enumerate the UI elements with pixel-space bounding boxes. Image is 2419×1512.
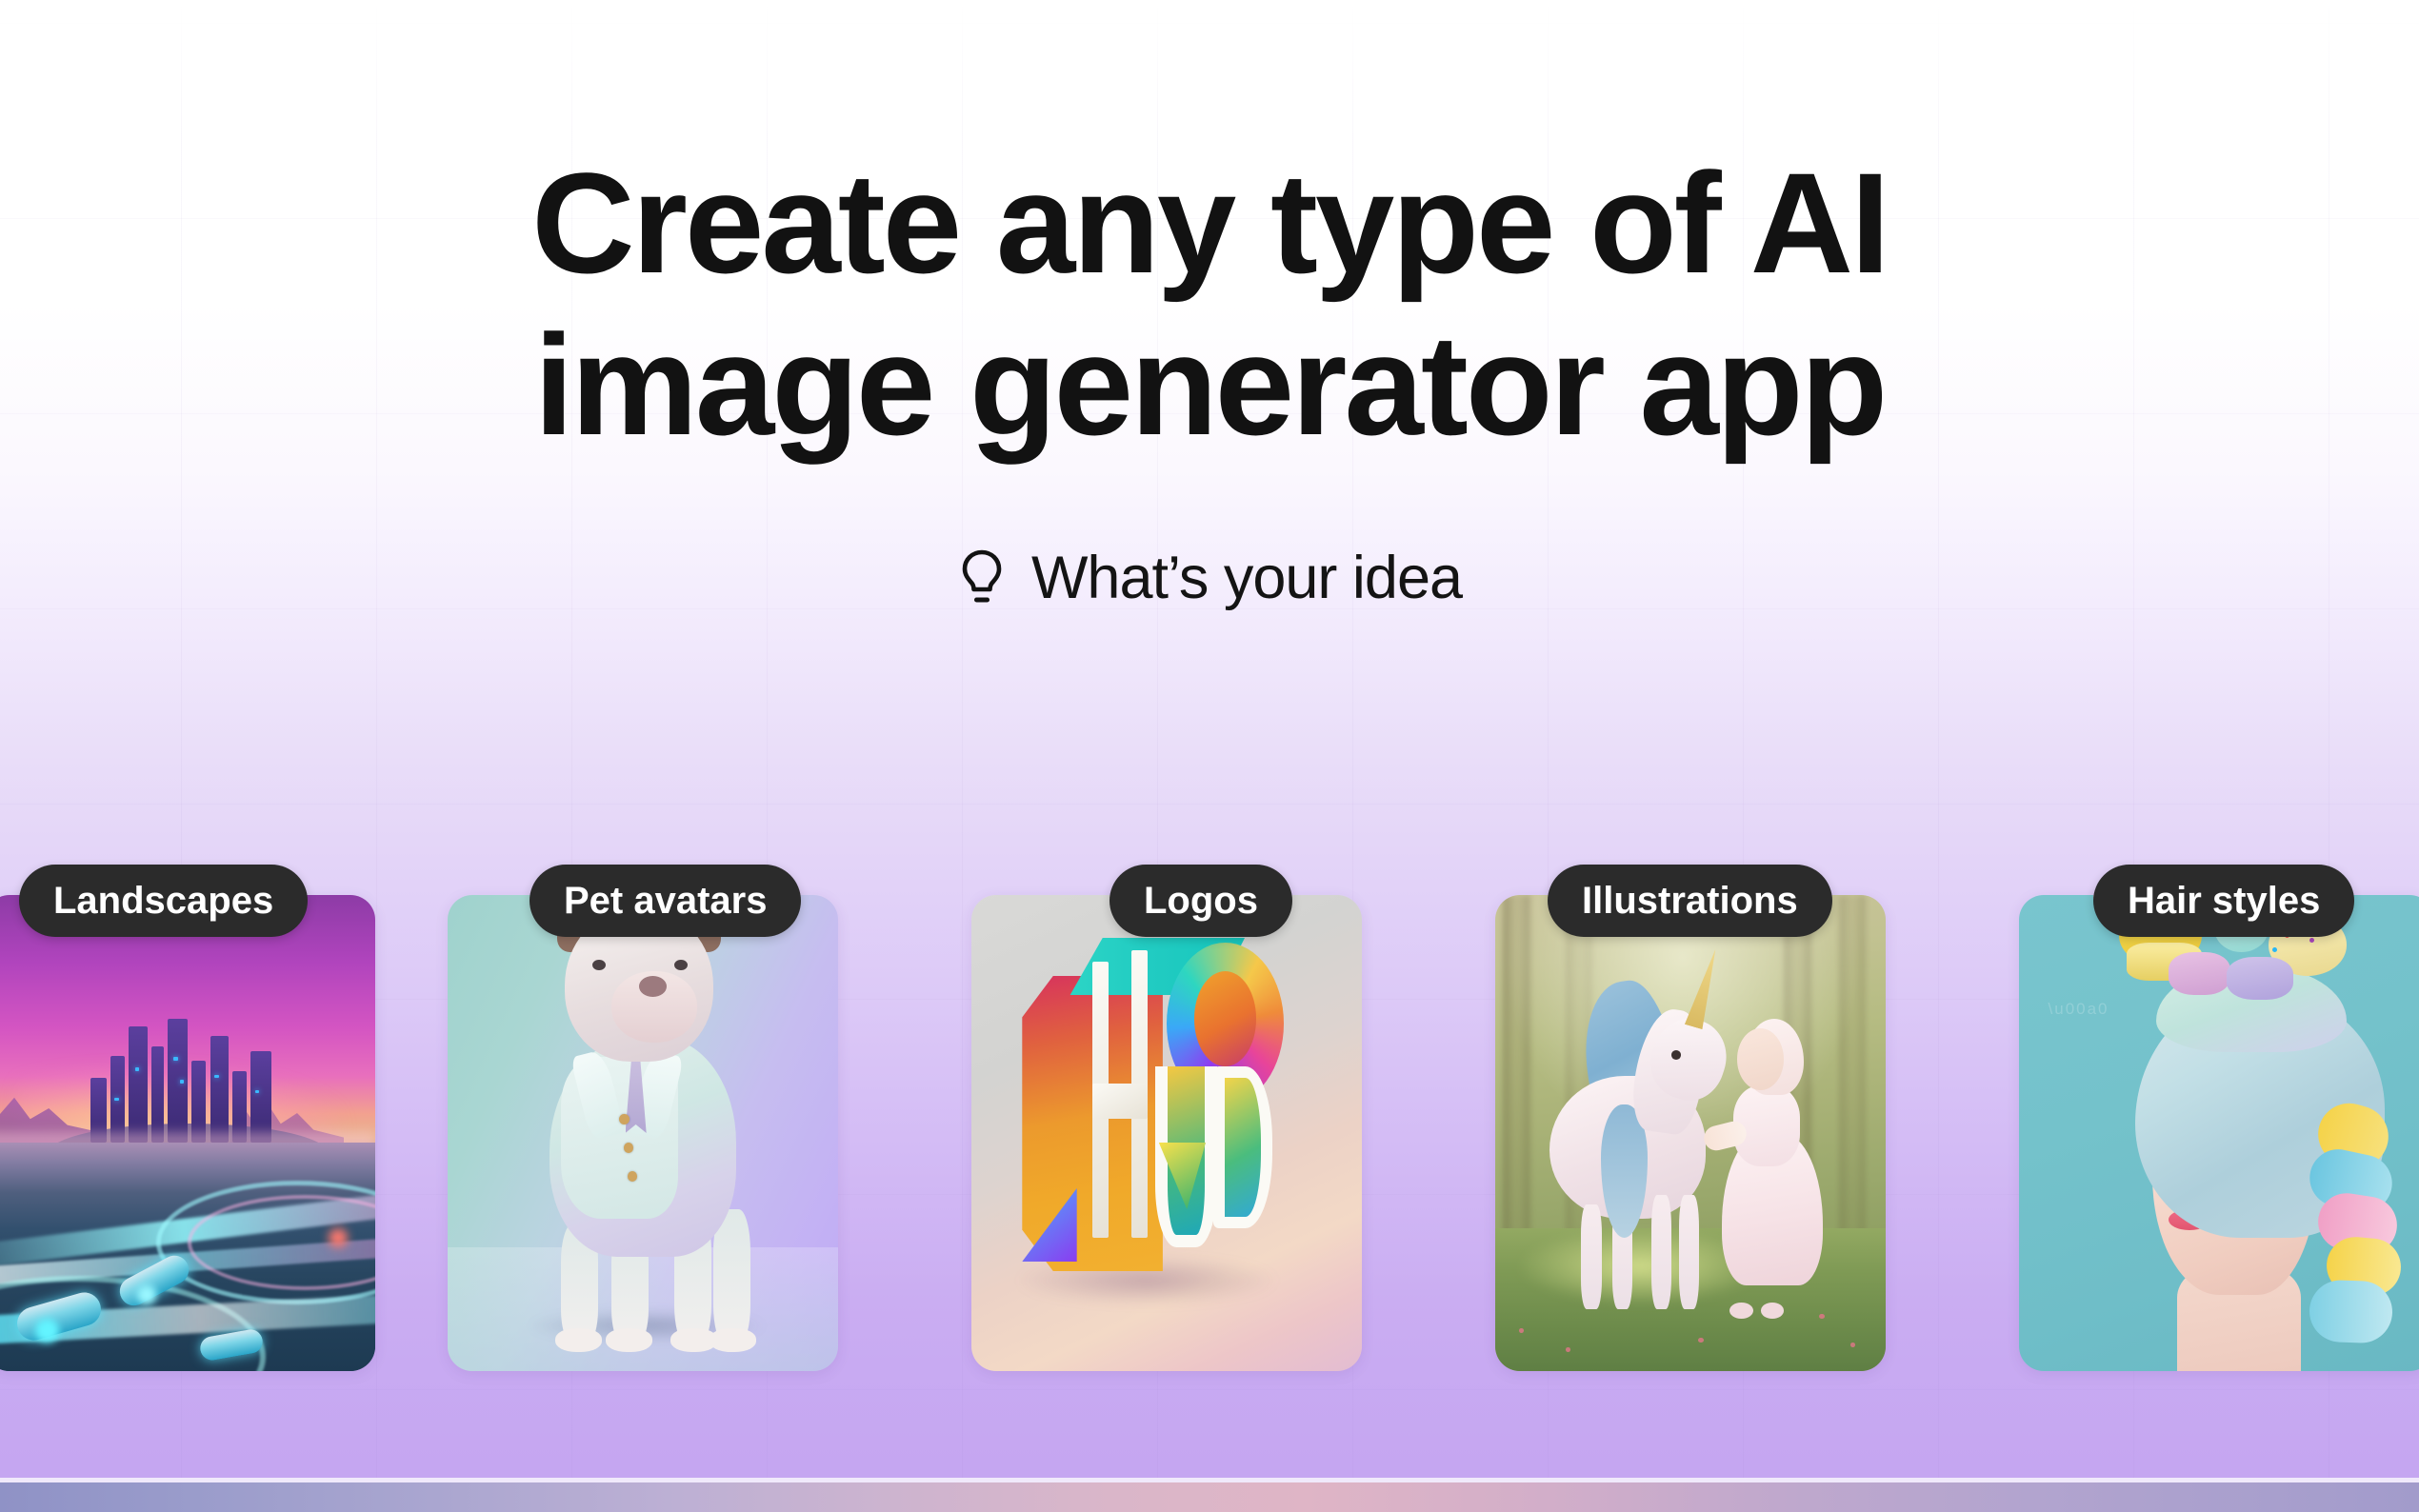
landscapes-artwork: [0, 895, 375, 1371]
headline-line-1: Create any type of AI: [0, 143, 2419, 305]
card-label-logos[interactable]: Logos: [1110, 865, 1292, 937]
hero-section: Create any type of AI image generator ap…: [0, 143, 2419, 612]
card-label-pet-avatars[interactable]: Pet avatars: [530, 865, 801, 937]
card-pet-avatars[interactable]: [448, 895, 838, 1371]
page-root: Create any type of AI image generator ap…: [0, 0, 2419, 1512]
logos-artwork: [971, 895, 1362, 1371]
idea-prompt-row[interactable]: What’s your idea: [0, 544, 2419, 612]
pet-avatars-artwork: [448, 895, 838, 1371]
card-hair-styles[interactable]: \u00a0: [2019, 895, 2419, 1371]
page-title: Create any type of AI image generator ap…: [0, 143, 2419, 466]
illustrations-artwork: [1495, 895, 1886, 1371]
lightbulb-icon: [957, 548, 1007, 607]
card-label-illustrations[interactable]: Illustrations: [1548, 865, 1832, 937]
idea-prompt-label: What’s your idea: [1031, 544, 1462, 612]
hair-styles-artwork: \u00a0: [2019, 895, 2419, 1371]
headline-line-2: image generator app: [0, 305, 2419, 467]
card-landscapes[interactable]: [0, 895, 375, 1371]
card-illustrations[interactable]: [1495, 895, 1886, 1371]
background-top-fade: [0, 0, 2419, 143]
card-label-landscapes[interactable]: Landscapes: [19, 865, 308, 937]
card-label-hair-styles[interactable]: Hair styles: [2093, 865, 2354, 937]
category-card-strip: \u00a0: [0, 895, 2419, 1371]
card-logos[interactable]: [971, 895, 1362, 1371]
bottom-gradient-strip: [0, 1482, 2419, 1512]
